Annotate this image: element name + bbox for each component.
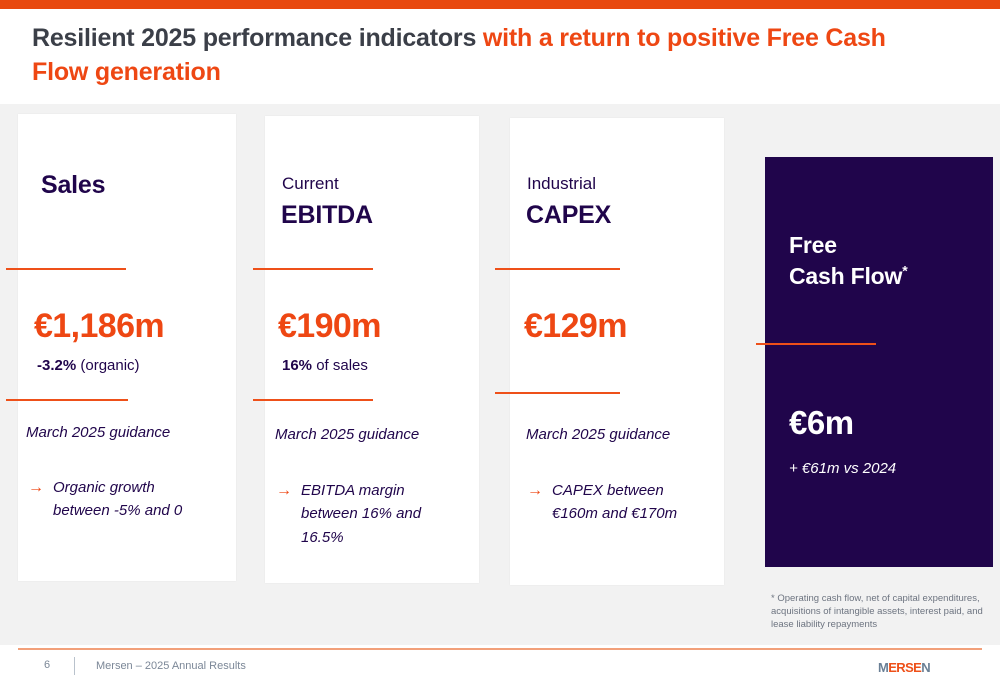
card-fcf-rule	[756, 343, 876, 345]
card-ebitda-subvalue-rest: of sales	[312, 357, 368, 374]
card-capex-value: €129m	[524, 307, 627, 346]
card-fcf-heading-line2: Cash Flow	[789, 263, 902, 289]
card-capex-bullet-text: CAPEX between €160m and €170m	[552, 479, 703, 526]
card-capex-prelabel: Industrial	[527, 174, 596, 194]
card-sales-subvalue: -3.2% (organic)	[37, 357, 140, 374]
card-capex-rule-top	[495, 268, 620, 270]
footer-divider-line	[18, 648, 982, 650]
card-sales-subvalue-bold: -3.2%	[37, 357, 76, 374]
card-sales-rule-top	[6, 268, 126, 270]
card-fcf-heading-line1: Free	[789, 232, 837, 258]
mersen-logo: mersen	[878, 656, 930, 677]
card-sales-subvalue-rest: (organic)	[76, 357, 139, 374]
card-fcf-value: €6m	[789, 404, 854, 442]
card-fcf-heading: Free Cash Flow*	[789, 230, 907, 291]
card-fcf-heading-asterisk: *	[902, 262, 907, 278]
card-ebitda-bullet-text: EBITDA margin between 16% and 16.5%	[301, 479, 452, 549]
card-ebitda-value: €190m	[278, 307, 381, 346]
card-fcf-subvalue: + €61m vs 2024	[789, 460, 896, 477]
mersen-logo-part2: erse	[888, 656, 921, 676]
mersen-logo-part3: n	[921, 656, 930, 676]
card-sales-bullet: → Organic growth between -5% and 0	[28, 476, 206, 523]
card-capex-rule-bottom	[495, 392, 620, 394]
card-capex-guidance-label: March 2025 guidance	[526, 426, 670, 443]
footnote-text: * Operating cash flow, net of capital ex…	[771, 592, 993, 631]
footer-vertical-separator	[74, 657, 75, 675]
page-title-primary: Resilient 2025 performance indicators	[32, 24, 483, 52]
page-number: 6	[44, 659, 50, 671]
page-title: Resilient 2025 performance indicators wi…	[32, 22, 932, 89]
card-sales-rule-bottom	[6, 399, 128, 401]
arrow-right-icon: →	[527, 479, 543, 502]
arrow-right-icon: →	[28, 476, 44, 499]
card-sales-bullet-text: Organic growth between -5% and 0	[53, 476, 206, 523]
card-ebitda-guidance-label: March 2025 guidance	[275, 426, 419, 443]
card-sales-heading: Sales	[41, 171, 105, 200]
card-ebitda-subvalue: 16% of sales	[282, 357, 368, 374]
card-ebitda-heading: EBITDA	[281, 201, 373, 230]
card-ebitda-bullet: → EBITDA margin between 16% and 16.5%	[276, 479, 452, 549]
card-ebitda-rule-bottom	[253, 399, 373, 401]
card-sales-value: €1,186m	[34, 307, 164, 346]
top-accent-bar	[0, 0, 1000, 9]
card-capex-heading: CAPEX	[526, 201, 611, 230]
footer-caption: Mersen – 2025 Annual Results	[96, 660, 246, 672]
card-capex-bullet: → CAPEX between €160m and €170m	[527, 479, 703, 526]
mersen-logo-part1: m	[878, 656, 888, 676]
card-ebitda-subvalue-bold: 16%	[282, 357, 312, 374]
card-sales-guidance-label: March 2025 guidance	[26, 424, 170, 441]
arrow-right-icon: →	[276, 479, 292, 502]
slide-root: Resilient 2025 performance indicators wi…	[0, 0, 1000, 685]
card-ebitda-prelabel: Current	[282, 174, 339, 194]
card-ebitda-rule-top	[253, 268, 373, 270]
kpi-card-free-cash-flow	[765, 157, 993, 567]
